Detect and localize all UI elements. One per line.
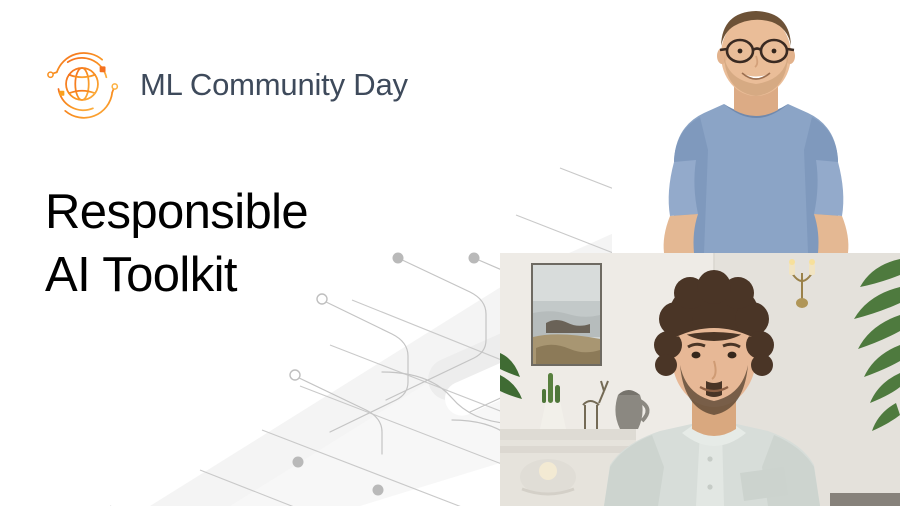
page-title-line-1: Responsible <box>45 181 475 244</box>
globe-orbit-icon <box>40 42 124 126</box>
shirt-pocket <box>740 467 788 501</box>
speaker-primary-portrait <box>612 0 900 253</box>
page-title-line-2: AI Toolkit <box>45 244 475 307</box>
sconce-flame-right <box>809 259 815 265</box>
circuit-node-hollow <box>290 370 300 380</box>
orbit-node-circle-right <box>112 84 117 89</box>
shirt-button <box>707 456 712 461</box>
speaker-video-primary[interactable] <box>612 0 900 253</box>
arm-right <box>814 214 848 253</box>
circuit-node-filled <box>373 485 384 496</box>
sleeve-left <box>669 160 698 216</box>
eye-right <box>728 352 737 359</box>
brand-name: ML Community Day <box>140 69 408 100</box>
painting-sky <box>533 265 600 305</box>
globe-orbit-svg <box>40 42 124 126</box>
eye-left <box>692 352 701 359</box>
sleeve-right <box>814 160 843 216</box>
eye-right <box>772 49 777 54</box>
sconce-flame-left <box>789 259 795 265</box>
page-title: Responsible AI Toolkit <box>45 181 475 307</box>
baseboard <box>830 493 900 506</box>
shirt-button <box>707 484 712 489</box>
eye-left <box>738 49 743 54</box>
mantel-candle-glow <box>539 462 557 480</box>
slide-canvas: ML Community Day Responsible AI Toolkit <box>0 0 900 506</box>
speaker-video-secondary[interactable] <box>500 253 900 506</box>
brand-lockup: ML Community Day <box>40 42 408 126</box>
orbit-node-square-left <box>59 91 64 96</box>
painting <box>531 263 602 366</box>
arm-left <box>664 214 698 253</box>
goatee <box>706 381 722 397</box>
orbit-node-circle-left <box>48 72 53 77</box>
orbit-node-square-top <box>100 66 106 72</box>
circuit-node-filled <box>293 457 304 468</box>
speaker-secondary-scene <box>500 253 900 506</box>
sconce-body <box>796 298 808 308</box>
